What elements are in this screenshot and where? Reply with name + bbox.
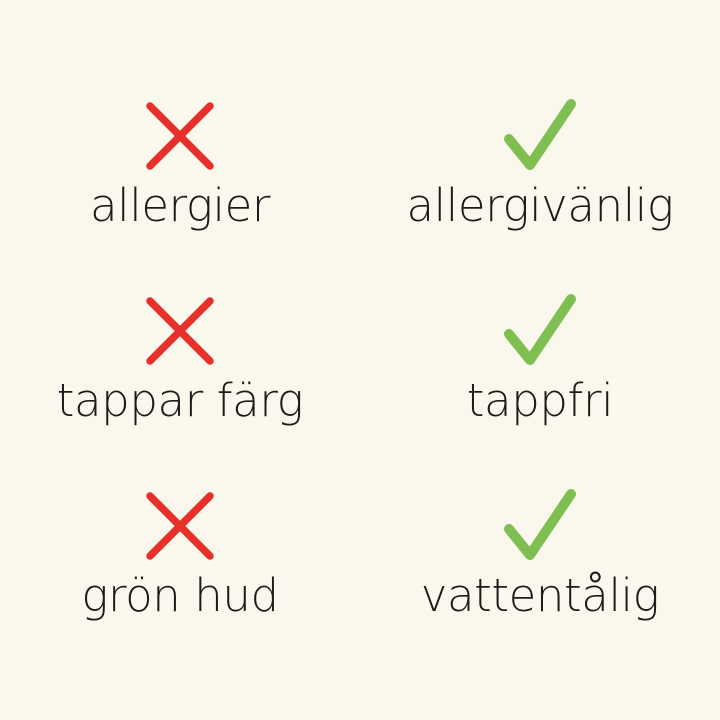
item-label: allergier xyxy=(90,183,270,238)
item-label: allergivänlig xyxy=(406,183,673,238)
check-icon xyxy=(503,99,577,173)
comparison-item-positive-1: allergivänlig xyxy=(360,0,720,238)
item-label: grön hud xyxy=(81,573,278,628)
comparison-item-positive-3: vattentålig xyxy=(360,433,720,628)
comparison-graphic: allergier allergivänlig tappar färg xyxy=(0,0,720,720)
comparison-item-negative-3: grön hud xyxy=(0,433,360,628)
comparison-item-positive-2: tappfri xyxy=(360,238,720,433)
comparison-item-negative-1: allergier xyxy=(0,0,360,238)
cross-icon xyxy=(143,489,217,563)
comparison-item-negative-2: tappar färg xyxy=(0,238,360,433)
item-label: tappar färg xyxy=(57,378,303,433)
check-icon xyxy=(503,489,577,563)
cross-icon xyxy=(143,99,217,173)
item-label: vattentålig xyxy=(421,573,660,628)
comparison-grid: allergier allergivänlig tappar färg xyxy=(0,0,720,720)
bottom-spacer xyxy=(0,628,720,720)
check-icon xyxy=(503,294,577,368)
cross-icon xyxy=(143,294,217,368)
item-label: tappfri xyxy=(467,378,613,433)
